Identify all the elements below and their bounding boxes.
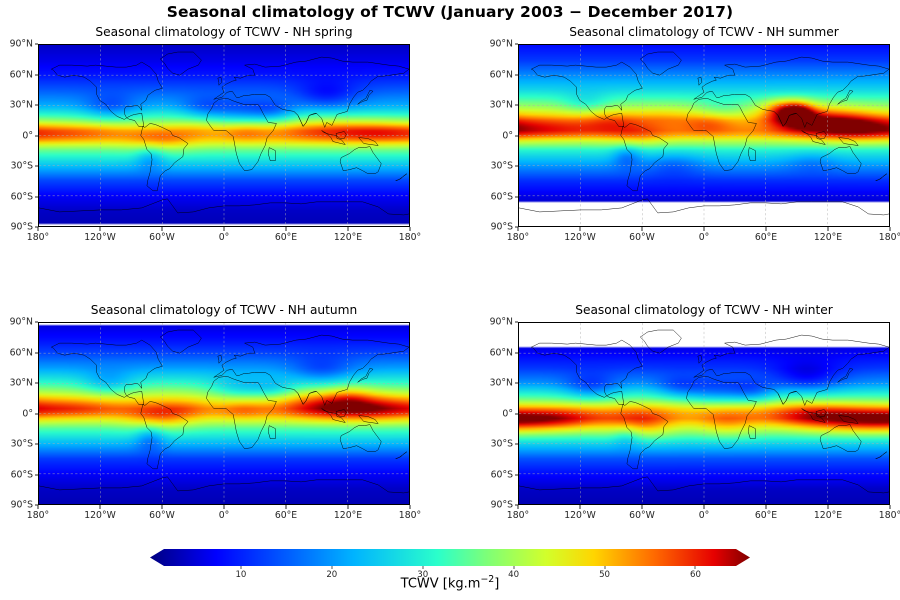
y-tick-label: 30°S bbox=[491, 161, 513, 172]
x-tick-label: 60°E bbox=[755, 232, 777, 243]
map-axes[interactable] bbox=[38, 322, 410, 505]
x-tick-label: 120°W bbox=[564, 510, 596, 521]
y-tick-mark bbox=[515, 135, 519, 136]
y-tick-label: 90°S bbox=[11, 222, 33, 233]
colorbar-gradient bbox=[150, 549, 750, 566]
y-tick-label: 30°S bbox=[11, 439, 33, 450]
gridlines bbox=[519, 45, 889, 226]
x-tick-label: 180° bbox=[399, 232, 421, 243]
y-tick-label: 90°S bbox=[491, 500, 513, 511]
y-tick-mark bbox=[515, 322, 519, 323]
x-tick-label: 180° bbox=[507, 510, 529, 521]
y-tick-mark bbox=[515, 352, 519, 353]
x-tick-mark bbox=[410, 505, 411, 509]
x-tick-mark bbox=[642, 505, 643, 509]
colorbar-label-exponent: −2 bbox=[480, 574, 494, 585]
gridlines bbox=[39, 323, 409, 504]
x-tick-mark bbox=[766, 227, 767, 231]
x-tick-label: 60°W bbox=[629, 232, 655, 243]
x-tick-label: 120°E bbox=[814, 232, 842, 243]
x-tick-mark bbox=[704, 227, 705, 231]
x-tick-label: 60°E bbox=[755, 510, 777, 521]
panel-title: Seasonal climatology of TCWV - NH autumn bbox=[38, 303, 410, 317]
y-tick-mark bbox=[515, 196, 519, 197]
x-tick-mark bbox=[580, 227, 581, 231]
y-tick-mark bbox=[35, 196, 39, 197]
x-tick-label: 60°W bbox=[149, 232, 175, 243]
x-tick-mark bbox=[348, 227, 349, 231]
y-tick-mark bbox=[35, 74, 39, 75]
panel-winter: Seasonal climatology of TCWV - NH winter… bbox=[518, 322, 890, 505]
x-tick-mark bbox=[162, 227, 163, 231]
x-tick-mark bbox=[828, 505, 829, 509]
x-tick-mark bbox=[704, 505, 705, 509]
x-tick-label: 120°W bbox=[84, 510, 116, 521]
y-tick-mark bbox=[515, 74, 519, 75]
y-tick-label: 60°N bbox=[490, 347, 513, 358]
y-tick-mark bbox=[35, 166, 39, 167]
gridlines bbox=[519, 323, 889, 504]
y-tick-mark bbox=[515, 474, 519, 475]
x-tick-label: 120°W bbox=[84, 232, 116, 243]
map-overlay bbox=[39, 45, 409, 226]
x-tick-label: 180° bbox=[399, 510, 421, 521]
y-tick-label: 30°S bbox=[11, 161, 33, 172]
x-tick-label: 0° bbox=[699, 232, 710, 243]
x-tick-label: 0° bbox=[219, 510, 230, 521]
colorbar[interactable]: 102030405060 bbox=[150, 549, 750, 566]
map-overlay bbox=[519, 323, 889, 504]
x-tick-label: 180° bbox=[27, 232, 49, 243]
x-tick-mark bbox=[38, 227, 39, 231]
y-tick-label: 60°N bbox=[10, 69, 33, 80]
panel-title: Seasonal climatology of TCWV - NH spring bbox=[38, 25, 410, 39]
x-tick-mark bbox=[286, 227, 287, 231]
x-tick-mark bbox=[410, 227, 411, 231]
map-overlay bbox=[39, 323, 409, 504]
y-tick-mark bbox=[515, 105, 519, 106]
y-tick-label: 60°S bbox=[491, 469, 513, 480]
y-tick-label: 30°N bbox=[10, 100, 33, 111]
x-tick-mark bbox=[286, 505, 287, 509]
y-tick-mark bbox=[515, 44, 519, 45]
y-tick-label: 60°N bbox=[490, 69, 513, 80]
x-tick-mark bbox=[518, 505, 519, 509]
y-tick-mark bbox=[515, 444, 519, 445]
y-tick-label: 0° bbox=[502, 130, 513, 141]
x-tick-mark bbox=[348, 505, 349, 509]
x-tick-mark bbox=[224, 505, 225, 509]
y-tick-label: 90°N bbox=[490, 317, 513, 328]
x-tick-label: 120°E bbox=[334, 232, 362, 243]
y-tick-label: 30°N bbox=[10, 378, 33, 389]
y-tick-mark bbox=[35, 352, 39, 353]
x-tick-mark bbox=[518, 227, 519, 231]
x-tick-label: 60°W bbox=[149, 510, 175, 521]
y-tick-label: 0° bbox=[22, 408, 33, 419]
colorbar-label-suffix: ] bbox=[494, 576, 499, 591]
y-tick-label: 30°S bbox=[491, 439, 513, 450]
x-tick-mark bbox=[162, 505, 163, 509]
y-tick-label: 90°N bbox=[10, 317, 33, 328]
y-tick-label: 60°S bbox=[11, 469, 33, 480]
colorbar-label-prefix: TCWV [kg.m bbox=[401, 576, 481, 591]
y-tick-mark bbox=[35, 135, 39, 136]
panel-title: Seasonal climatology of TCWV - NH summer bbox=[518, 25, 890, 39]
x-tick-mark bbox=[38, 505, 39, 509]
x-tick-label: 60°E bbox=[275, 232, 297, 243]
y-tick-mark bbox=[35, 322, 39, 323]
panel-autumn: Seasonal climatology of TCWV - NH autumn… bbox=[38, 322, 410, 505]
x-tick-mark bbox=[224, 227, 225, 231]
y-tick-label: 60°N bbox=[10, 347, 33, 358]
figure-canvas: Seasonal climatology of TCWV (January 20… bbox=[0, 0, 900, 600]
gridlines bbox=[39, 45, 409, 226]
y-tick-mark bbox=[35, 44, 39, 45]
x-tick-mark bbox=[642, 227, 643, 231]
map-axes[interactable] bbox=[518, 44, 890, 227]
colorbar-tick-mark bbox=[331, 566, 332, 569]
y-tick-mark bbox=[515, 413, 519, 414]
x-tick-mark bbox=[890, 505, 891, 509]
panel-spring: Seasonal climatology of TCWV - NH spring… bbox=[38, 44, 410, 227]
y-tick-label: 30°N bbox=[490, 378, 513, 389]
x-tick-mark bbox=[580, 505, 581, 509]
x-tick-mark bbox=[100, 227, 101, 231]
x-tick-label: 0° bbox=[699, 510, 710, 521]
y-tick-mark bbox=[35, 413, 39, 414]
x-tick-label: 0° bbox=[219, 232, 230, 243]
map-overlay bbox=[519, 45, 889, 226]
colorbar-axis-label: TCWV [kg.m−2] bbox=[0, 574, 900, 591]
colorbar-tick-mark bbox=[513, 566, 514, 569]
y-tick-label: 30°N bbox=[490, 100, 513, 111]
x-tick-label: 120°E bbox=[334, 510, 362, 521]
x-tick-label: 120°E bbox=[814, 510, 842, 521]
x-tick-label: 180° bbox=[507, 232, 529, 243]
y-tick-label: 0° bbox=[22, 130, 33, 141]
y-tick-label: 60°S bbox=[491, 191, 513, 202]
x-tick-mark bbox=[890, 227, 891, 231]
y-tick-label: 90°S bbox=[11, 500, 33, 511]
y-tick-label: 0° bbox=[502, 408, 513, 419]
y-tick-mark bbox=[35, 444, 39, 445]
map-axes[interactable] bbox=[518, 322, 890, 505]
colorbar-tick-mark bbox=[422, 566, 423, 569]
figure-suptitle: Seasonal climatology of TCWV (January 20… bbox=[0, 3, 900, 21]
x-tick-label: 180° bbox=[27, 510, 49, 521]
panel-title: Seasonal climatology of TCWV - NH winter bbox=[518, 303, 890, 317]
colorbar-tick-mark bbox=[604, 566, 605, 569]
map-axes[interactable] bbox=[38, 44, 410, 227]
y-tick-mark bbox=[35, 474, 39, 475]
y-tick-label: 90°N bbox=[10, 39, 33, 50]
y-tick-label: 60°S bbox=[11, 191, 33, 202]
y-tick-label: 90°N bbox=[490, 39, 513, 50]
y-tick-mark bbox=[515, 166, 519, 167]
x-tick-label: 120°W bbox=[564, 232, 596, 243]
colorbar-tick-mark bbox=[240, 566, 241, 569]
x-tick-mark bbox=[100, 505, 101, 509]
y-tick-mark bbox=[35, 105, 39, 106]
y-tick-mark bbox=[35, 383, 39, 384]
x-tick-label: 180° bbox=[879, 510, 900, 521]
x-tick-label: 180° bbox=[879, 232, 900, 243]
y-tick-mark bbox=[515, 383, 519, 384]
x-tick-label: 60°E bbox=[275, 510, 297, 521]
x-tick-mark bbox=[828, 227, 829, 231]
panel-summer: Seasonal climatology of TCWV - NH summer… bbox=[518, 44, 890, 227]
x-tick-label: 60°W bbox=[629, 510, 655, 521]
y-tick-label: 90°S bbox=[491, 222, 513, 233]
x-tick-mark bbox=[766, 505, 767, 509]
colorbar-tick-mark bbox=[695, 566, 696, 569]
